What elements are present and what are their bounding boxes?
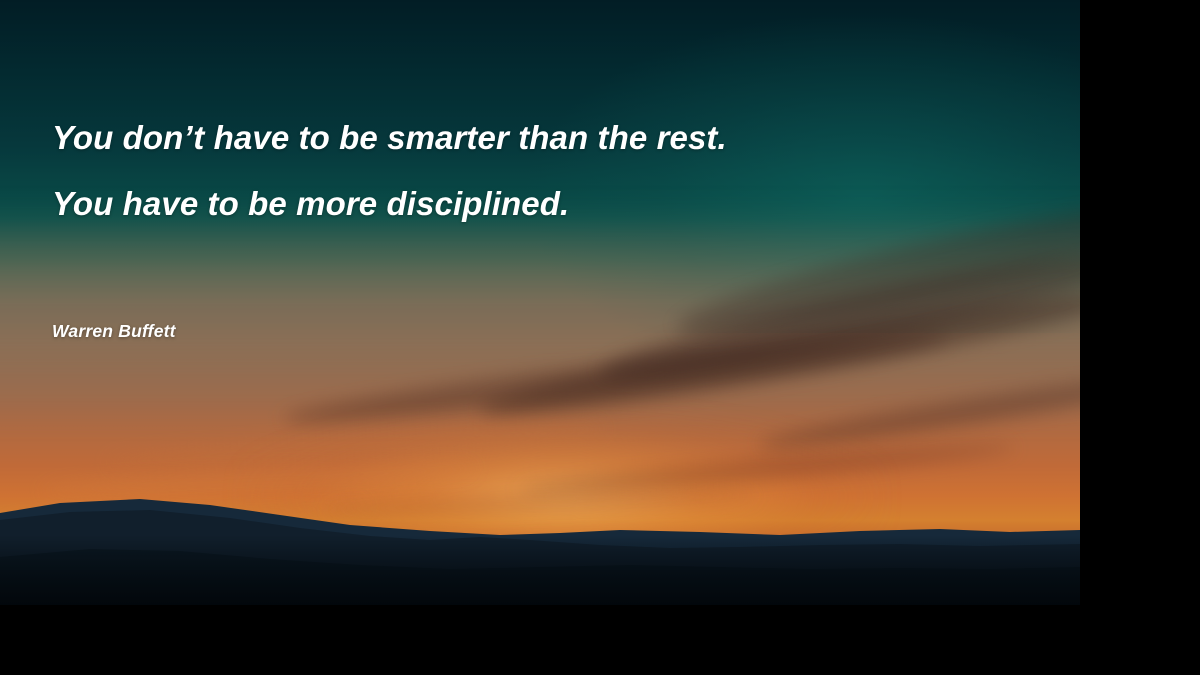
quote-overlay: You don’t have to be smarter than the re… [0, 0, 1080, 605]
slide-canvas: You don’t have to be smarter than the re… [0, 0, 1200, 675]
quote-line-2: You have to be more disciplined. [52, 185, 569, 223]
quote-line-1: You don’t have to be smarter than the re… [52, 119, 727, 157]
letterbox-right [1080, 0, 1200, 675]
background-photo: You don’t have to be smarter than the re… [0, 0, 1080, 605]
quote-attribution: Warren Buffett [52, 321, 176, 342]
letterbox-bottom [0, 605, 1200, 675]
